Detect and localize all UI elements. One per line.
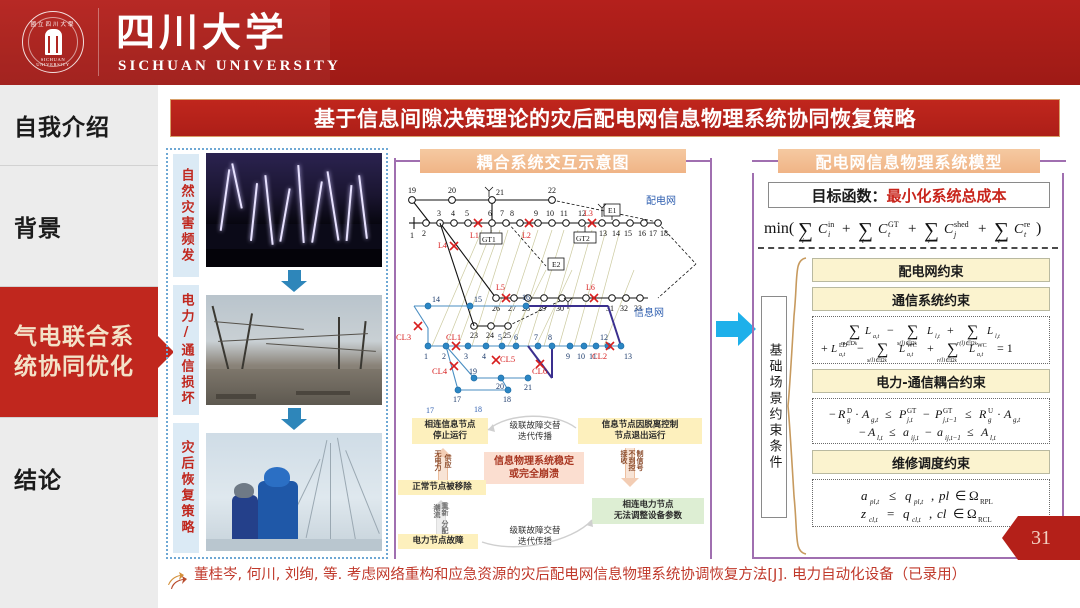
svg-text:a: a: [861, 488, 868, 503]
svg-text:l,t: l,t: [935, 334, 940, 340]
sidebar-item-label: 自我介绍: [14, 108, 110, 142]
constraint-communication-system: 通信系统约束: [812, 287, 1050, 311]
svg-text:CL5: CL5: [500, 354, 515, 364]
slide-title: 基于信息间隙决策理论的灾后配电网信息物理系统协同恢复策略: [170, 99, 1060, 137]
svg-text:∈: ∈: [953, 506, 964, 521]
svg-text:20: 20: [448, 186, 456, 195]
equation-box-repair: a pl,t ≤ q pl,t , pl ∈ Ω RPL z cl,t = q …: [812, 479, 1050, 527]
svg-text:CL6: CL6: [532, 366, 547, 376]
svg-text:·: ·: [855, 407, 859, 421]
coupled-network-diagram: 19 20 21 22 1 2 3 4 5 6 7 8 9 10 11 12 1…: [396, 178, 710, 406]
header-divider: [98, 8, 99, 76]
svg-text:11: 11: [560, 209, 568, 218]
svg-text:cl,t: cl,t: [869, 516, 879, 524]
svg-text:shed: shed: [954, 220, 969, 229]
right-header-right-tab: [1038, 160, 1066, 162]
lightning-storm-photo: [206, 153, 382, 267]
svg-text:14: 14: [612, 229, 620, 238]
svg-text:∑: ∑: [858, 218, 873, 242]
svg-text:s(l)∈Ωk: s(l)∈Ωk: [867, 357, 888, 362]
svg-text:L: L: [986, 325, 993, 337]
svg-text:=: =: [887, 506, 894, 521]
svg-text:≤: ≤: [965, 407, 972, 421]
equation-box-communication: ∑ m∈Dk L a,t − ∑ s(l)∈Ωk L l,t + ∑ r(l)∈…: [812, 316, 1050, 364]
svg-text:,: ,: [929, 506, 932, 521]
svg-text:ij,t−1: ij,t−1: [945, 434, 961, 442]
svg-text:l,t: l,t: [990, 434, 997, 442]
svg-text:≤: ≤: [889, 488, 896, 503]
page-number-badge: 31: [1002, 516, 1080, 560]
sidebar-item-conclusion[interactable]: 结论: [0, 418, 158, 538]
svg-text:32: 32: [620, 304, 628, 313]
svg-text:∑: ∑: [947, 341, 958, 358]
power-network-label: 配电网: [646, 194, 676, 207]
svg-text:8: 8: [548, 333, 552, 342]
svg-text:P: P: [934, 407, 943, 421]
svg-text:pl,t: pl,t: [869, 498, 880, 506]
sidebar-item-label: 结论: [14, 461, 62, 495]
svg-text:4: 4: [482, 352, 486, 361]
svg-text:−: −: [857, 341, 864, 355]
svg-text:∑: ∑: [907, 323, 918, 340]
mid-header-right-tab: [684, 160, 712, 162]
svg-text:a,t: a,t: [873, 334, 880, 340]
svg-text:j: j: [953, 230, 957, 239]
svg-text:g: g: [847, 416, 851, 424]
svg-text:∑: ∑: [924, 218, 939, 242]
svg-text:27: 27: [508, 304, 516, 313]
svg-text:R: R: [837, 407, 846, 421]
svg-text:A: A: [980, 425, 989, 439]
mid-panel-header: 耦合系统交互示意图: [420, 149, 686, 173]
svg-text:21: 21: [524, 383, 532, 392]
svg-text:GT: GT: [888, 220, 899, 229]
svg-text:∈: ∈: [955, 488, 966, 503]
svg-text:L4: L4: [438, 241, 447, 250]
stage-tag-power-comm-damage: 电力/通信损坏: [173, 285, 199, 415]
svg-text:20: 20: [496, 382, 504, 391]
svg-text:cl,t: cl,t: [912, 516, 922, 524]
svg-text:2: 2: [442, 352, 446, 361]
svg-text:L: L: [926, 325, 933, 337]
constraint-repair-scheduling: 维修调度约束: [812, 450, 1050, 474]
svg-text:−: −: [925, 425, 932, 439]
svg-text:A: A: [1003, 407, 1012, 421]
svg-text:g,t: g,t: [1013, 416, 1021, 424]
svg-text:∑: ∑: [877, 341, 888, 358]
citation-footer: 董桂岑, 何川, 刘绚, 等. 考虑网络重构和应急资源的灾后配电网信息物理系统协…: [166, 565, 1066, 605]
svg-text:pl,t: pl,t: [913, 498, 924, 506]
svg-text:a,t: a,t: [907, 352, 914, 358]
cascading-failure-flowchart: 17 18 相连信息节点停止运行 级联故障交替迭代传播 信息节点因脱离控制节点退…: [396, 408, 710, 558]
svg-text:a: a: [937, 425, 943, 439]
svg-text:j,t: j,t: [906, 416, 914, 424]
svg-text:RCL: RCL: [978, 516, 992, 524]
svg-text:L6: L6: [586, 283, 595, 292]
svg-text:10: 10: [546, 209, 554, 218]
svg-text:A: A: [867, 425, 876, 439]
sidebar-item-label: 气电联合系统协同优化: [14, 322, 134, 382]
svg-text:min(: min(: [764, 220, 794, 237]
reference-icon: [166, 571, 188, 593]
svg-text:CL2: CL2: [592, 351, 607, 361]
svg-text:j,t−1: j,t−1: [942, 416, 957, 424]
svg-text:26: 26: [492, 304, 500, 313]
svg-text:z: z: [860, 506, 866, 521]
svg-text:cl: cl: [937, 506, 947, 521]
objective-highlight: 最小化系统总成本: [887, 185, 1007, 206]
svg-text:+: +: [978, 221, 986, 237]
svg-text:j: j: [927, 237, 930, 243]
svg-text:GT1: GT1: [482, 235, 496, 244]
info-network-label: 信息网: [634, 306, 664, 319]
svg-text:1: 1: [424, 352, 428, 361]
objective-equation: min( ∑ i C in i + ∑ t C GT t + ∑ j C she…: [758, 213, 1058, 243]
svg-text:+: +: [842, 221, 850, 237]
svg-text:,: ,: [931, 488, 934, 503]
svg-text:WC: WC: [977, 343, 987, 349]
svg-text:22: 22: [548, 186, 556, 195]
flow-arrow-down-1: [281, 270, 307, 292]
constraint-distribution-network: 配电网约束: [812, 258, 1050, 282]
svg-text:g,t: g,t: [871, 416, 879, 424]
svg-text:−: −: [859, 425, 866, 439]
svg-text:E2: E2: [552, 260, 561, 269]
svg-text:l,t: l,t: [995, 334, 1000, 340]
svg-text:9: 9: [534, 209, 538, 218]
repair-crew-photo: [206, 433, 382, 551]
svg-text:≤: ≤: [967, 425, 974, 439]
svg-text:∑: ∑: [967, 323, 978, 340]
seal-arc-text: SICHUAN UNIVERSITY: [29, 57, 77, 67]
svg-text:L: L: [968, 343, 975, 355]
svg-text:16: 16: [638, 229, 646, 238]
svg-text:L: L: [830, 343, 837, 355]
svg-text:9: 9: [566, 352, 570, 361]
svg-text:≤: ≤: [889, 425, 896, 439]
svg-text:R: R: [978, 407, 987, 421]
svg-text:ij,t: ij,t: [911, 434, 920, 442]
svg-text:CL1: CL1: [446, 332, 461, 342]
svg-text:E1: E1: [608, 206, 617, 215]
svg-text:−: −: [923, 407, 930, 421]
svg-text:Ω: Ω: [969, 488, 979, 503]
sidebar-item-label: 背景: [14, 209, 62, 243]
svg-text:+: +: [908, 221, 916, 237]
svg-text:LD: LD: [839, 343, 848, 349]
svg-text:8: 8: [510, 209, 514, 218]
svg-text:6: 6: [514, 333, 518, 342]
svg-text:+: +: [821, 341, 828, 355]
svg-text:18: 18: [660, 229, 668, 238]
objective-label: 目标函数：: [811, 185, 886, 206]
svg-text:21: 21: [496, 188, 504, 197]
svg-text:16: 16: [522, 293, 530, 302]
svg-text:7: 7: [534, 333, 538, 342]
svg-text:CL4: CL4: [432, 366, 448, 376]
svg-text:15: 15: [474, 295, 482, 304]
svg-text:24: 24: [486, 331, 494, 340]
svg-text:r(l)∈Ωk: r(l)∈Ωk: [937, 357, 958, 362]
svg-text:5: 5: [498, 333, 502, 342]
svg-text:13: 13: [599, 229, 607, 238]
svg-text:L: L: [898, 343, 905, 355]
right-panel-header: 配电网信息物理系统模型: [778, 149, 1040, 173]
disaster-sequence-panel: 自然灾害频发 电力/通信损坏 灾后恢复策略: [166, 148, 388, 559]
objective-function-box: 目标函数： 最小化系统总成本: [768, 182, 1050, 208]
svg-text:a,t: a,t: [977, 352, 984, 358]
svg-text:L1: L1: [470, 231, 479, 240]
sidebar-item-background[interactable]: 背景: [0, 166, 158, 286]
svg-text:19: 19: [408, 186, 416, 195]
mid-header-left-tab: [394, 160, 422, 162]
svg-text:g: g: [988, 416, 992, 424]
svg-text:1: 1: [410, 231, 414, 240]
university-seal-logo: 國立四川大學 SICHUAN UNIVERSITY: [22, 11, 84, 73]
seal-top-text: 國立四川大學: [29, 20, 77, 28]
svg-text:C: C: [944, 222, 954, 237]
power-line-damage-photo: [206, 295, 382, 405]
flow-curved-connectors: [396, 408, 710, 558]
svg-text:A: A: [861, 407, 870, 421]
svg-text:14: 14: [432, 295, 440, 304]
svg-text:∑: ∑: [994, 218, 1009, 242]
svg-text:i: i: [802, 237, 804, 243]
svg-text:i: i: [828, 230, 830, 239]
brand-name-en: SICHUAN UNIVERSITY: [118, 58, 341, 75]
svg-text:10: 10: [577, 352, 585, 361]
sidebar-item-gas-power-joint-optimization[interactable]: 气电联合系统协同优化: [0, 287, 158, 417]
svg-text:L: L: [864, 325, 871, 337]
svg-text:∑: ∑: [849, 323, 860, 340]
flow-arrow-right-big: [716, 310, 756, 348]
svg-text:L3: L3: [584, 209, 593, 218]
svg-text:a,t: a,t: [839, 352, 846, 358]
svg-text:3: 3: [464, 352, 468, 361]
svg-text:C: C: [818, 222, 828, 237]
sidebar-item-self-intro[interactable]: 自我介绍: [0, 85, 158, 165]
svg-text:≤: ≤: [885, 407, 892, 421]
svg-text:GT: GT: [943, 407, 953, 415]
citation-text: 董桂岑, 何川, 刘绚, 等. 考虑网络重构和应急资源的灾后配电网信息物理系统协…: [194, 565, 1060, 585]
svg-text:P: P: [898, 407, 907, 421]
svg-text:q: q: [903, 506, 910, 521]
svg-text:∑: ∑: [798, 218, 813, 242]
svg-text:+: +: [927, 341, 934, 355]
sidebar-nav: 自我介绍 背景 气电联合系统协同优化 结论: [0, 85, 158, 608]
svg-text:−: −: [829, 407, 836, 421]
svg-text:a: a: [903, 425, 909, 439]
svg-text:6: 6: [488, 209, 492, 218]
equation-box-coupling: − R D g · A g,t ≤ P GT j,t − P GT j,t−1 …: [812, 398, 1050, 444]
svg-text:q: q: [905, 488, 912, 503]
svg-text:): ): [1036, 220, 1041, 237]
objective-constraints-divider: [758, 247, 1058, 249]
svg-text:L2: L2: [522, 231, 531, 240]
svg-text:2: 2: [422, 229, 426, 238]
svg-text:WC: WC: [907, 343, 917, 349]
svg-text:t: t: [1024, 230, 1027, 239]
svg-text:l,t: l,t: [877, 434, 884, 442]
svg-text:RPL: RPL: [980, 498, 993, 506]
svg-text:GT: GT: [907, 407, 917, 415]
svg-text:C: C: [1014, 222, 1024, 237]
svg-text:pl: pl: [938, 488, 950, 503]
svg-text:7: 7: [500, 209, 504, 218]
svg-text:23: 23: [470, 331, 478, 340]
svg-text:U: U: [988, 407, 993, 415]
svg-text:15: 15: [624, 229, 632, 238]
svg-text:re: re: [1024, 220, 1031, 229]
svg-text:12: 12: [600, 333, 608, 342]
university-header-banner: 國立四川大學 SICHUAN UNIVERSITY 四川大学 SICHUAN U…: [0, 0, 1080, 85]
base-scenario-constraints-label: 基础场景约束条件: [761, 296, 787, 518]
svg-text:17: 17: [649, 229, 657, 238]
svg-text:Ω: Ω: [967, 506, 977, 521]
svg-text:4: 4: [451, 209, 455, 218]
svg-text:GT2: GT2: [576, 234, 590, 243]
svg-text:17: 17: [453, 395, 461, 404]
svg-text:= 1: = 1: [997, 341, 1013, 355]
svg-text:19: 19: [469, 367, 477, 376]
svg-text:25: 25: [503, 331, 511, 340]
svg-text:−: −: [887, 323, 894, 337]
svg-text:t: t: [888, 230, 891, 239]
svg-text:·: ·: [997, 407, 1001, 421]
svg-text:CL3: CL3: [396, 332, 411, 342]
svg-text:D: D: [847, 407, 852, 415]
svg-text:3: 3: [437, 209, 441, 218]
svg-text:C: C: [878, 222, 888, 237]
seal-building-glyph: [45, 29, 62, 55]
svg-text:13: 13: [624, 352, 632, 361]
constraint-power-comm-coupling: 电力-通信耦合约束: [812, 369, 1050, 393]
brand-name-cn: 四川大学: [116, 12, 288, 54]
svg-text:+: +: [947, 323, 954, 337]
right-header-left-tab: [752, 160, 778, 162]
flow-arrow-down-2: [281, 408, 307, 430]
stage-tag-natural-disaster: 自然灾害频发: [173, 154, 199, 277]
svg-text:L5: L5: [496, 283, 505, 292]
svg-text:in: in: [828, 220, 834, 229]
svg-text:18: 18: [503, 395, 511, 404]
constraints-brace: [786, 256, 808, 556]
svg-text:5: 5: [465, 209, 469, 218]
stage-tag-restoration-strategy: 灾后恢复策略: [173, 423, 199, 553]
